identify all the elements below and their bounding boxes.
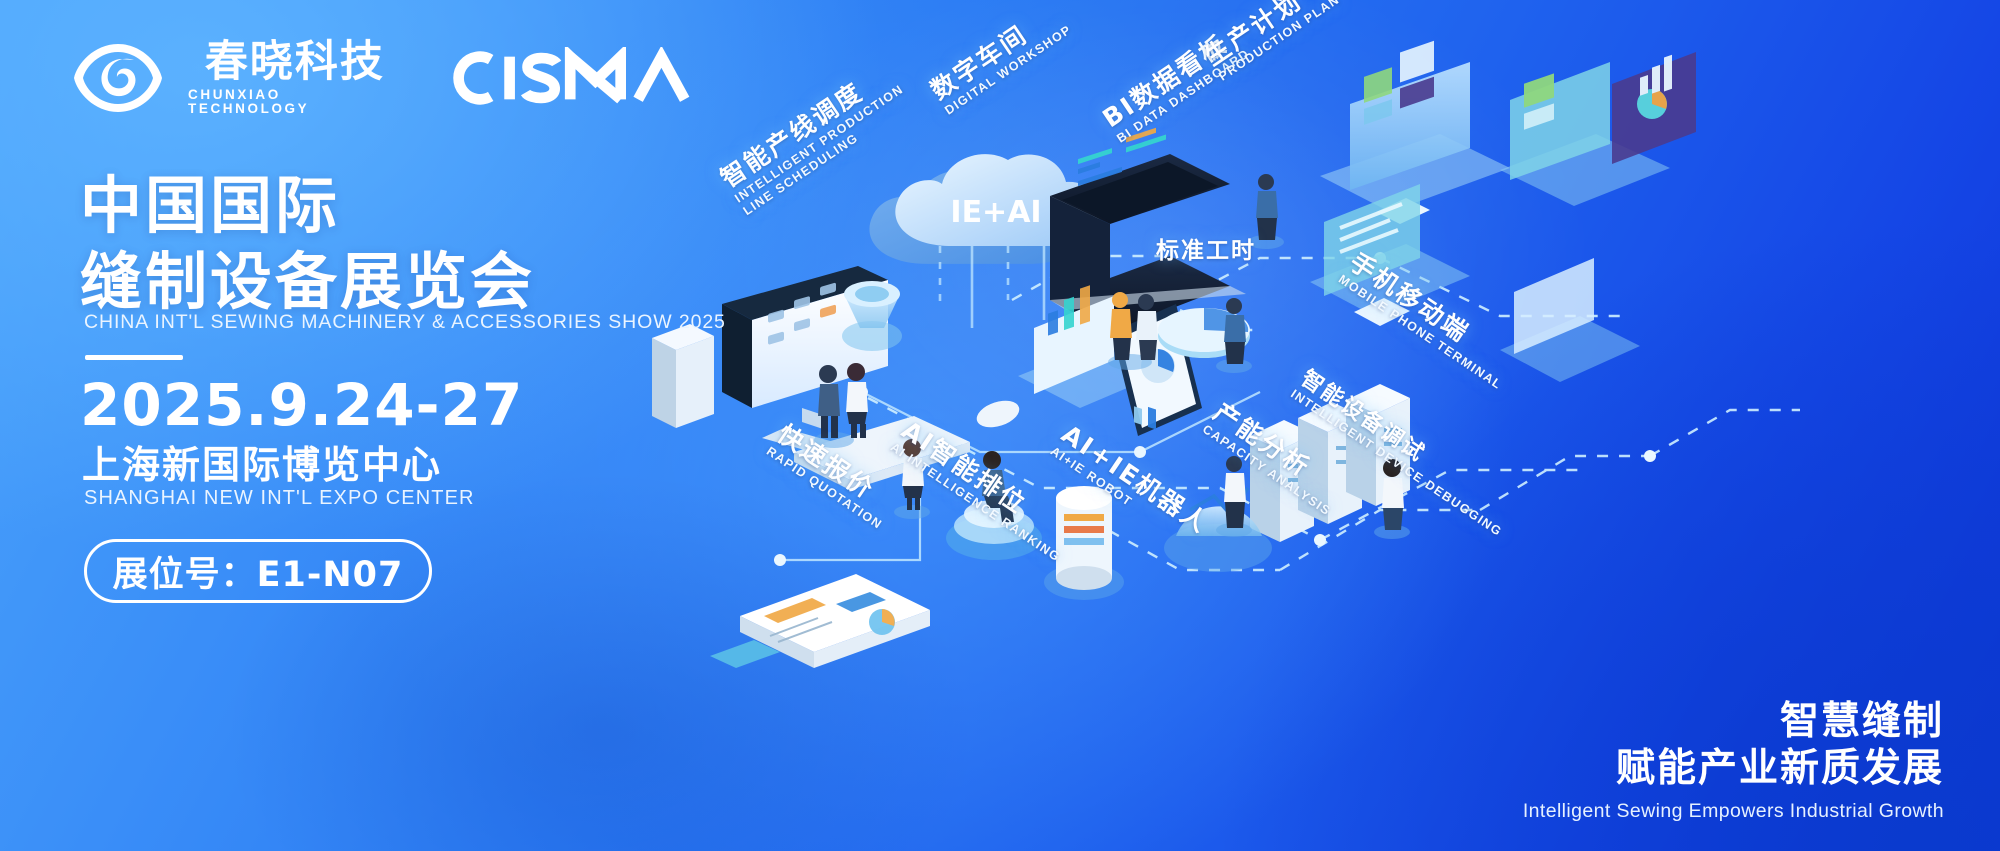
- booth-number-text: 展位号：E1-N07: [113, 546, 404, 597]
- booth-number-badge: 展位号：E1-N07: [84, 539, 432, 603]
- page-title: 中国国际 缝制设备展览会: [80, 168, 535, 319]
- cisma-logo: [448, 47, 700, 109]
- divider-rule: [85, 355, 183, 360]
- venue-name-cn: 上海新国际博览中心: [82, 443, 442, 489]
- headline-subtitle-en: CHINA INT'L SEWING MACHINERY & ACCESSORI…: [84, 311, 726, 334]
- tagline-line-2: 赋能产业新质发展: [1523, 745, 1944, 793]
- headline-line-2: 缝制设备展览会: [80, 244, 535, 320]
- tagline-line-1: 智慧缝制: [1523, 698, 1944, 746]
- logo-row: 春晓科技 CHUNXIAO TECHNOLOGY: [72, 38, 700, 118]
- headline-line-1: 中国国际: [80, 168, 535, 244]
- event-date: 2025.9.24-27: [80, 374, 523, 438]
- venue-name-en: SHANGHAI NEW INT'L EXPO CENTER: [84, 487, 475, 510]
- cloud-label: IE+AI: [950, 195, 1041, 230]
- chunxiao-name-en: CHUNXIAO TECHNOLOGY: [188, 88, 402, 115]
- tagline-block: 智慧缝制 赋能产业新质发展 Intelligent Sewing Empower…: [1523, 698, 1944, 823]
- left-content-column: 春晓科技 CHUNXIAO TECHNOLOGY 中国国际 缝制设备展览会 CH…: [0, 0, 700, 851]
- chunxiao-wordmark: 春晓科技 CHUNXIAO TECHNOLOGY: [188, 41, 402, 115]
- chunxiao-eye-logo-icon: [72, 38, 164, 118]
- tagline-line-en: Intelligent Sewing Empowers Industrial G…: [1523, 800, 1944, 823]
- chunxiao-name-cn: 春晓科技: [205, 41, 385, 84]
- promo-banner: IE+AI: [0, 0, 2000, 851]
